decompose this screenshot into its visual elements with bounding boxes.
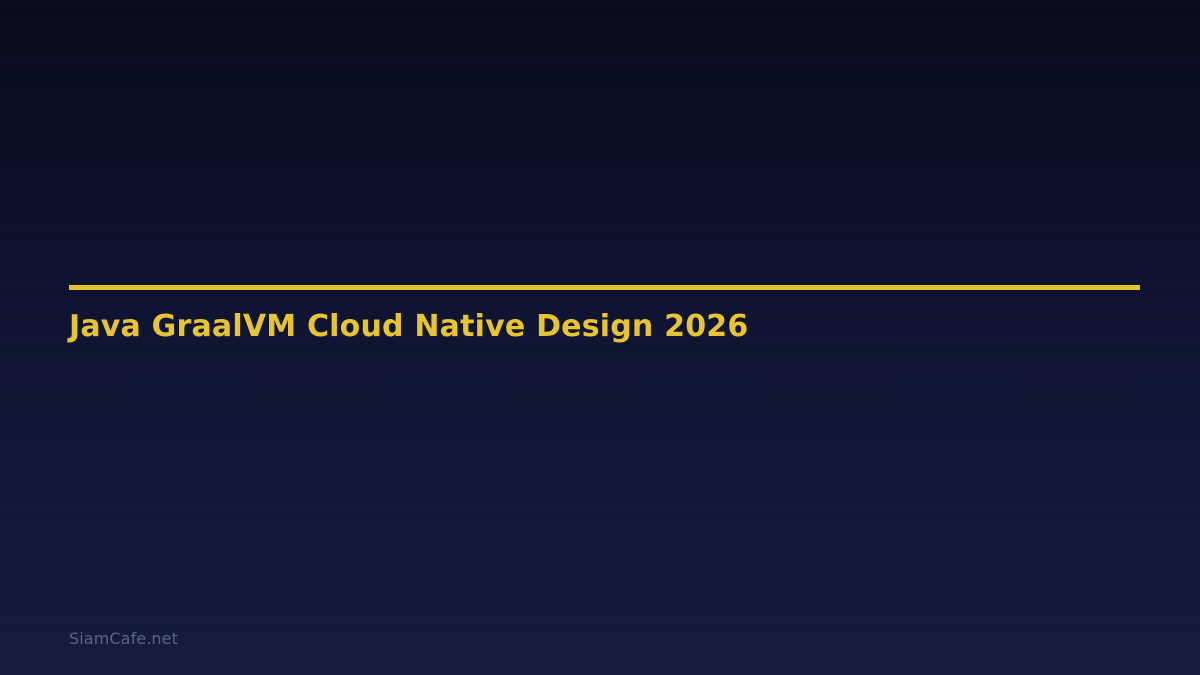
- slide-title: Java GraalVM Cloud Native Design 2026: [69, 309, 748, 345]
- title-block: Java GraalVM Cloud Native Design 2026: [69, 285, 1140, 290]
- accent-rule: [69, 285, 1140, 290]
- watermark-label: SiamCafe.net: [69, 628, 178, 650]
- presentation-slide: Java GraalVM Cloud Native Design 2026 Si…: [0, 0, 1200, 675]
